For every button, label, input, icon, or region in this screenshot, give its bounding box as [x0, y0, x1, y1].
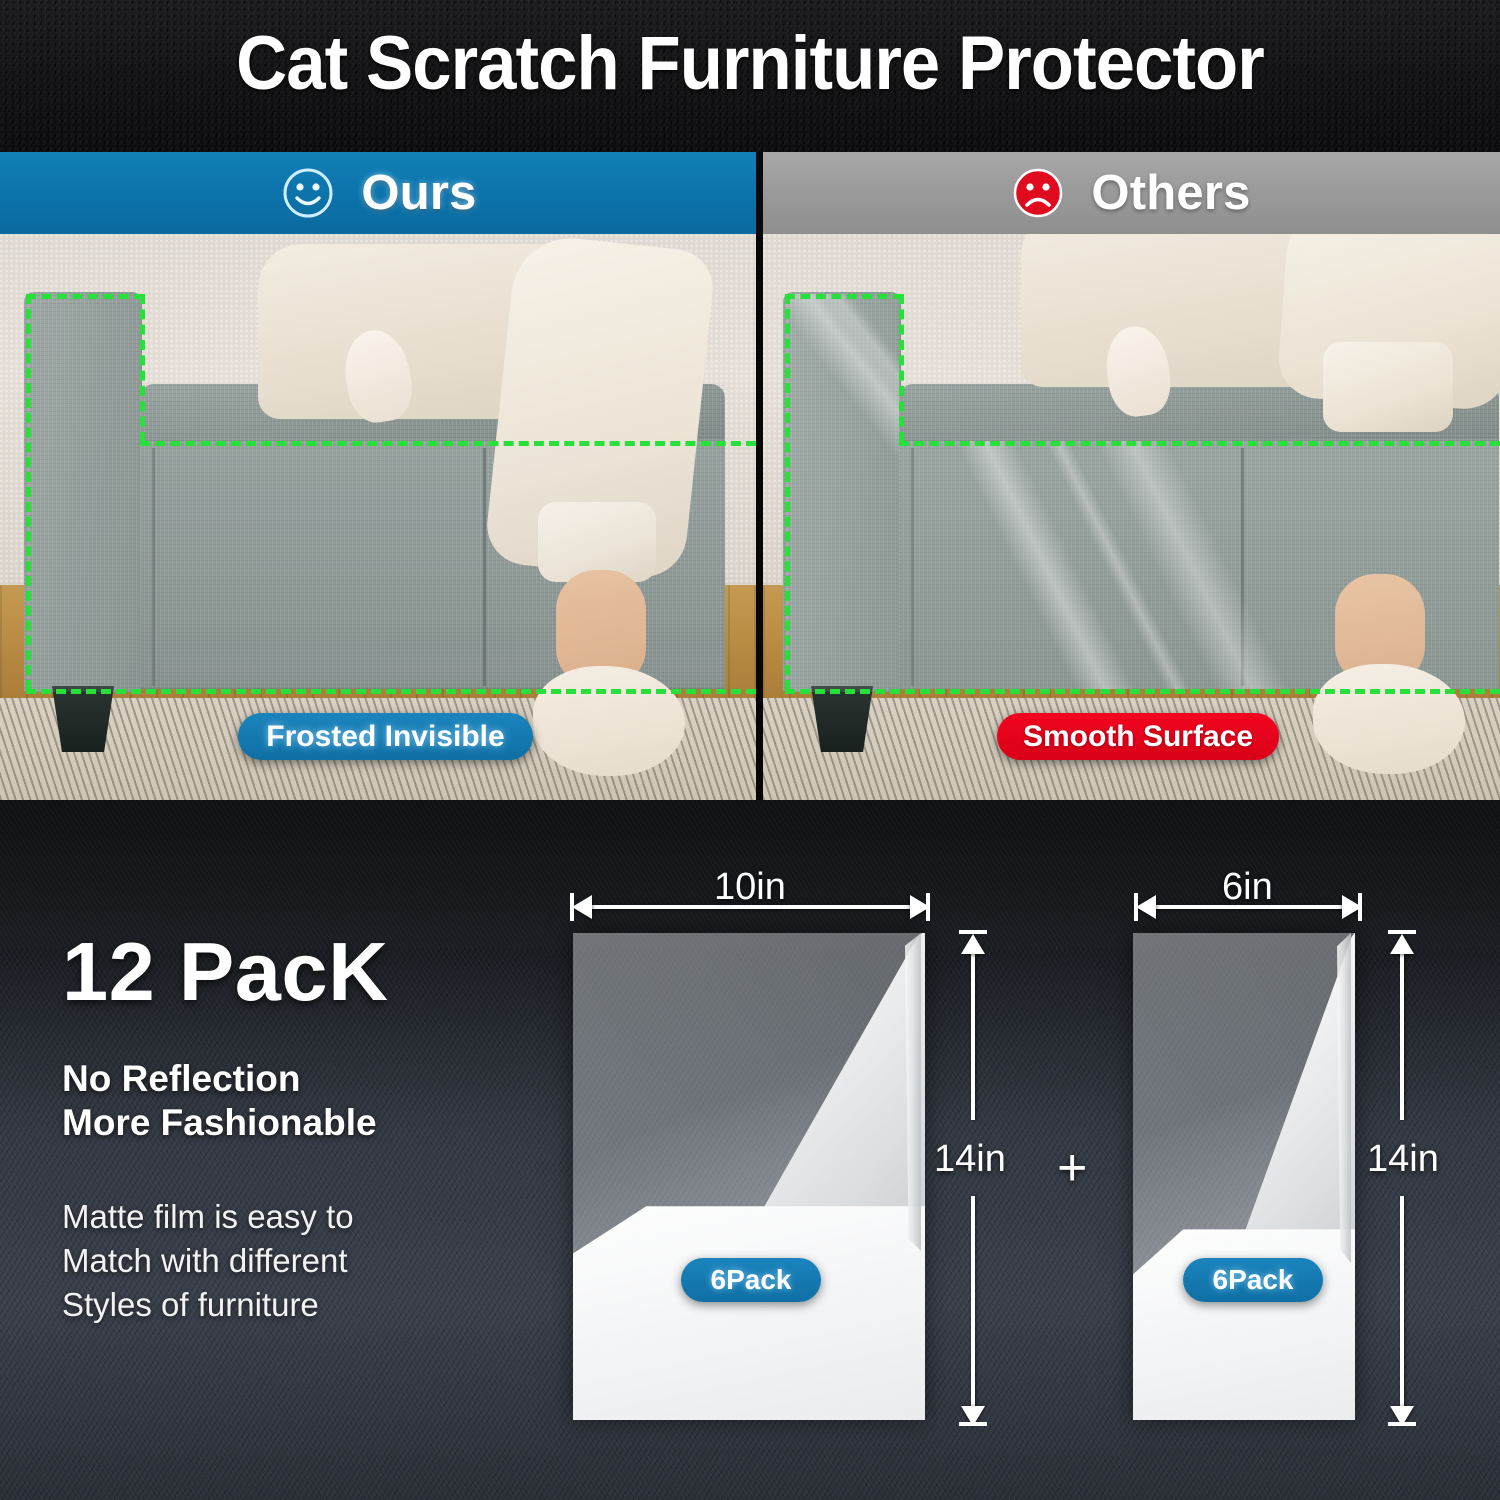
dimension-label-height-large: 14in [934, 1138, 1006, 1181]
protection-outline-seat [899, 441, 1500, 446]
photo-divider [756, 234, 763, 800]
pack-count-headline: 12 PacK [62, 930, 389, 1013]
comparison-label-others: Others [1091, 165, 1250, 221]
dimension-line-height-large-lower [971, 1196, 975, 1408]
smiley-face-icon [281, 166, 335, 220]
protection-outline-top [26, 294, 144, 299]
feature-subhead-line2: More Fashionable [62, 1101, 377, 1145]
protection-outline-inner [140, 294, 145, 442]
header-divider [756, 152, 763, 234]
badge-6pack-large: 6Pack [681, 1258, 821, 1302]
protection-outline-bottom [26, 689, 756, 694]
page-title: Cat Scratch Furniture Protector [53, 26, 1448, 102]
dimension-cap-left [1134, 893, 1138, 921]
dimension-cap-top [959, 930, 987, 934]
sofa-leg [811, 686, 873, 752]
dimension-cap-left [570, 893, 574, 921]
dimension-cap-top [1388, 930, 1416, 934]
protection-outline-left [26, 294, 31, 690]
film-sheet-large [573, 933, 925, 1420]
dimension-arrow-left [572, 895, 592, 919]
dimension-arrow-up [961, 934, 985, 954]
pant-leg-cuff [1323, 342, 1453, 432]
dimension-arrow-up [1390, 934, 1414, 954]
protection-outline-inner [899, 294, 904, 442]
film-sheet-small [1133, 933, 1355, 1420]
feature-body-line3: Styles of furniture [62, 1284, 319, 1325]
feature-body-line1: Matte film is easy to [62, 1196, 354, 1237]
peel-corner-flap [573, 1197, 925, 1420]
product-infographic: Cat Scratch Furniture Protector Ours [0, 0, 1500, 1500]
dimension-cap-right [926, 893, 930, 921]
comparison-header-ours: Ours [0, 152, 758, 234]
title-band: Cat Scratch Furniture Protector [0, 0, 1500, 152]
dimension-cap-bottom [1388, 1422, 1416, 1426]
sad-face-icon [1011, 166, 1065, 220]
peel-corner-flap [1133, 1221, 1355, 1420]
sofa-leg [52, 686, 114, 752]
dimension-cap-bottom [959, 1422, 987, 1426]
badge-frosted-invisible: Frosted Invisible [238, 713, 533, 760]
protection-outline-seat [140, 441, 756, 446]
glossy-film-overlay-base [899, 441, 1499, 689]
feature-subhead-line1: No Reflection [62, 1057, 300, 1101]
dimension-label-width-small: 6in [1222, 866, 1273, 909]
comparison-header-row: Ours Others [0, 152, 1500, 234]
dimension-arrow-left [1136, 895, 1156, 919]
protection-outline-bottom [785, 689, 1500, 694]
comparison-photo-row [0, 234, 1500, 800]
comparison-header-others: Others [762, 152, 1500, 234]
matte-film-overlay-arm [26, 294, 140, 692]
dimension-cap-right [1358, 893, 1362, 921]
matte-film-overlay-base [140, 441, 724, 687]
badge-6pack-small: 6Pack [1183, 1258, 1323, 1302]
dimension-line-height-small-lower [1400, 1196, 1404, 1408]
protection-outline-left [785, 294, 790, 690]
badge-smooth-surface: Smooth Surface [997, 713, 1279, 760]
feature-body-line2: Match with different [62, 1240, 348, 1281]
dimension-label-height-small: 14in [1367, 1138, 1439, 1181]
dimension-line-height-large-upper [971, 948, 975, 1120]
glossy-film-overlay-arm [785, 294, 899, 692]
protection-outline-top [785, 294, 903, 299]
plus-sign: + [1057, 1138, 1087, 1198]
comparison-label-ours: Ours [361, 165, 476, 221]
dimension-label-width-large: 10in [714, 866, 786, 909]
dimension-line-height-small-upper [1400, 948, 1404, 1120]
